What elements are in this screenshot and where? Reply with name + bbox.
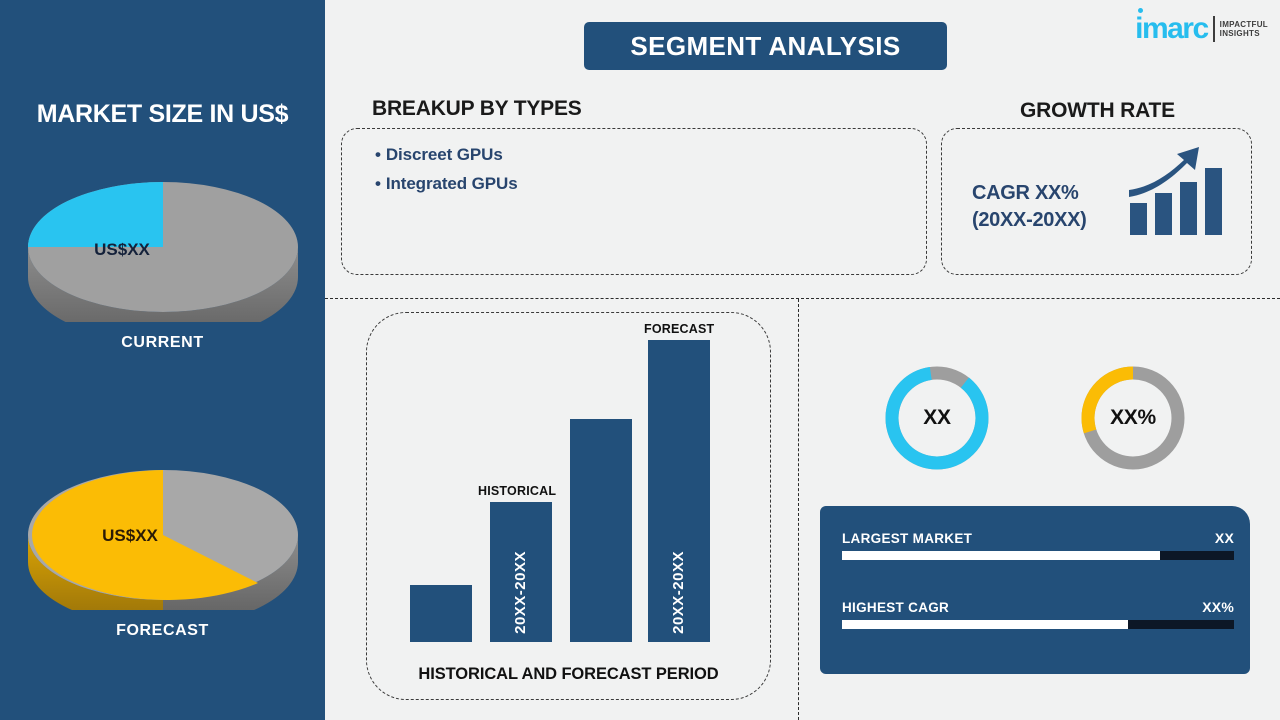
current-pie-svg: US$XX xyxy=(18,152,308,322)
logo-tagline: IMPACTFUL INSIGHTS xyxy=(1220,20,1268,38)
vertical-divider xyxy=(798,299,799,720)
current-pie-caption: CURRENT xyxy=(0,334,325,352)
market-size-title: MARKET SIZE IN US$ xyxy=(0,100,325,129)
largest-market-label: LARGEST MARKET xyxy=(842,531,972,546)
growth-arrow-bars-icon xyxy=(1127,145,1227,242)
highest-cagr-label: HIGHEST CAGR xyxy=(842,600,949,615)
cagr-donut: XX% xyxy=(1077,362,1189,479)
historical-forecast-chart: 20XX-20XX HISTORICAL 20XX-20XX FORECAST … xyxy=(366,312,771,700)
logo-text: imarc xyxy=(1135,12,1208,45)
market-share-donut-value: XX xyxy=(881,362,993,474)
logo-tagline-line1: IMPACTFUL xyxy=(1220,20,1268,29)
list-item: •Discreet GPUs xyxy=(375,140,518,169)
largest-market-progress-fill xyxy=(842,551,1160,560)
highest-cagr-stat: HIGHEST CAGR XX% xyxy=(842,599,1234,629)
infographic-root: MARKET SIZE IN US$ xyxy=(0,0,1280,720)
logo-wordmark: imarc xyxy=(1135,14,1208,44)
type-label: Discreet GPUs xyxy=(386,145,503,164)
horizontal-divider xyxy=(325,298,1280,299)
highest-cagr-value: XX% xyxy=(1202,599,1234,615)
imarc-logo: imarc IMPACTFUL INSIGHTS xyxy=(1135,14,1268,44)
cagr-line-1: CAGR XX% xyxy=(972,180,1087,207)
highest-cagr-progress-fill xyxy=(842,620,1128,629)
forecast-pie-value: US$XX xyxy=(102,526,158,545)
growth-rate-title: GROWTH RATE xyxy=(940,99,1255,123)
bar-2-period-label: 20XX-20XX xyxy=(512,551,529,634)
highest-cagr-progress-track xyxy=(842,620,1234,629)
type-label: Integrated GPUs xyxy=(386,174,518,193)
market-size-panel: MARKET SIZE IN US$ xyxy=(0,0,325,720)
list-item: •Integrated GPUs xyxy=(375,169,518,198)
bar-4-period-label: 20XX-20XX xyxy=(670,551,687,634)
current-pie-chart: US$XX CURRENT xyxy=(0,152,325,352)
forecast-annotation: FORECAST xyxy=(644,322,714,336)
logo-divider xyxy=(1213,16,1215,42)
historical-annotation: HISTORICAL xyxy=(478,484,556,498)
market-share-donut: XX xyxy=(881,362,993,479)
key-stats-card: LARGEST MARKET XX HIGHEST CAGR XX% xyxy=(820,506,1250,674)
cagr-line-2: (20XX-20XX) xyxy=(972,207,1087,234)
logo-tagline-line2: INSIGHTS xyxy=(1220,29,1268,38)
largest-market-progress-track xyxy=(842,551,1234,560)
forecast-pie-svg: US$XX xyxy=(18,440,308,610)
cagr-donut-value: XX% xyxy=(1077,362,1189,474)
forecast-pie-chart: US$XX FORECAST xyxy=(0,440,325,640)
bar-3 xyxy=(570,419,632,642)
bullet-icon: • xyxy=(375,174,381,193)
cagr-text: CAGR XX% (20XX-20XX) xyxy=(972,180,1087,234)
forecast-pie-caption: FORECAST xyxy=(0,622,325,640)
chart-caption: HISTORICAL AND FORECAST PERIOD xyxy=(366,665,771,684)
bullet-icon: • xyxy=(375,145,381,164)
largest-market-value: XX xyxy=(1215,530,1234,546)
types-list: •Discreet GPUs •Integrated GPUs xyxy=(375,140,518,198)
bar-1 xyxy=(410,585,472,642)
breakup-by-types-title: BREAKUP BY TYPES xyxy=(372,97,582,121)
largest-market-stat: LARGEST MARKET XX xyxy=(842,530,1234,560)
page-title: SEGMENT ANALYSIS xyxy=(584,22,947,70)
current-pie-value: US$XX xyxy=(94,240,150,259)
